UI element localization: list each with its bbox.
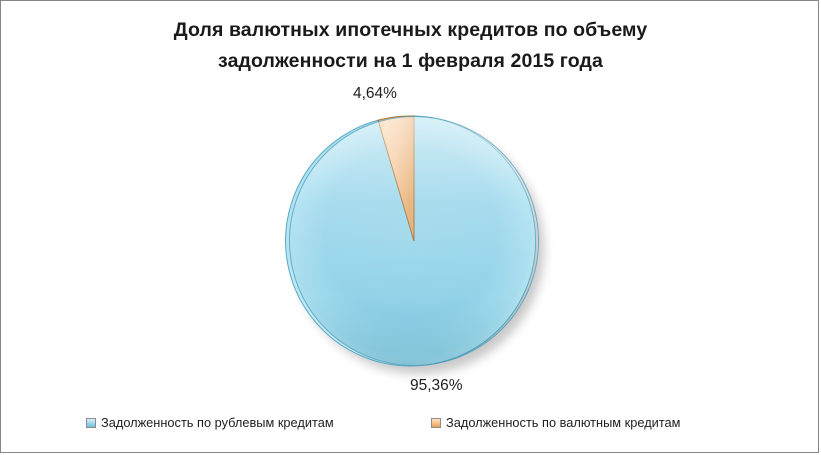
data-label-ruble: 95,36% [410, 377, 463, 395]
blue-swatch-icon [86, 418, 96, 428]
pie-svg [288, 115, 540, 367]
legend-item-currency[interactable]: Задолженность по валютным кредитам [431, 415, 680, 430]
legend-item-ruble[interactable]: Задолженность по рублевым кредитам [86, 415, 334, 430]
pie-graphic [288, 115, 540, 367]
legend-label-ruble: Задолженность по рублевым кредитам [101, 415, 334, 430]
pie-rim-shade-overlay [290, 117, 539, 366]
plot-area: 4,64% 95,36% [1, 87, 819, 387]
orange-swatch-icon [431, 418, 441, 428]
chart-title-line-2: задолженности на 1 февраля 2015 года [1, 46, 819, 77]
chart-title-line-1: Доля валютных ипотечных кредитов по объе… [174, 19, 648, 41]
chart-legend: Задолженность по рублевым кредитам Задол… [1, 409, 819, 439]
pie-chart-container: Доля валютных ипотечных кредитов по объе… [0, 0, 819, 453]
legend-label-currency: Задолженность по валютным кредитам [446, 415, 680, 430]
chart-title: Доля валютных ипотечных кредитов по объе… [1, 15, 819, 77]
data-label-currency: 4,64% [353, 85, 397, 103]
